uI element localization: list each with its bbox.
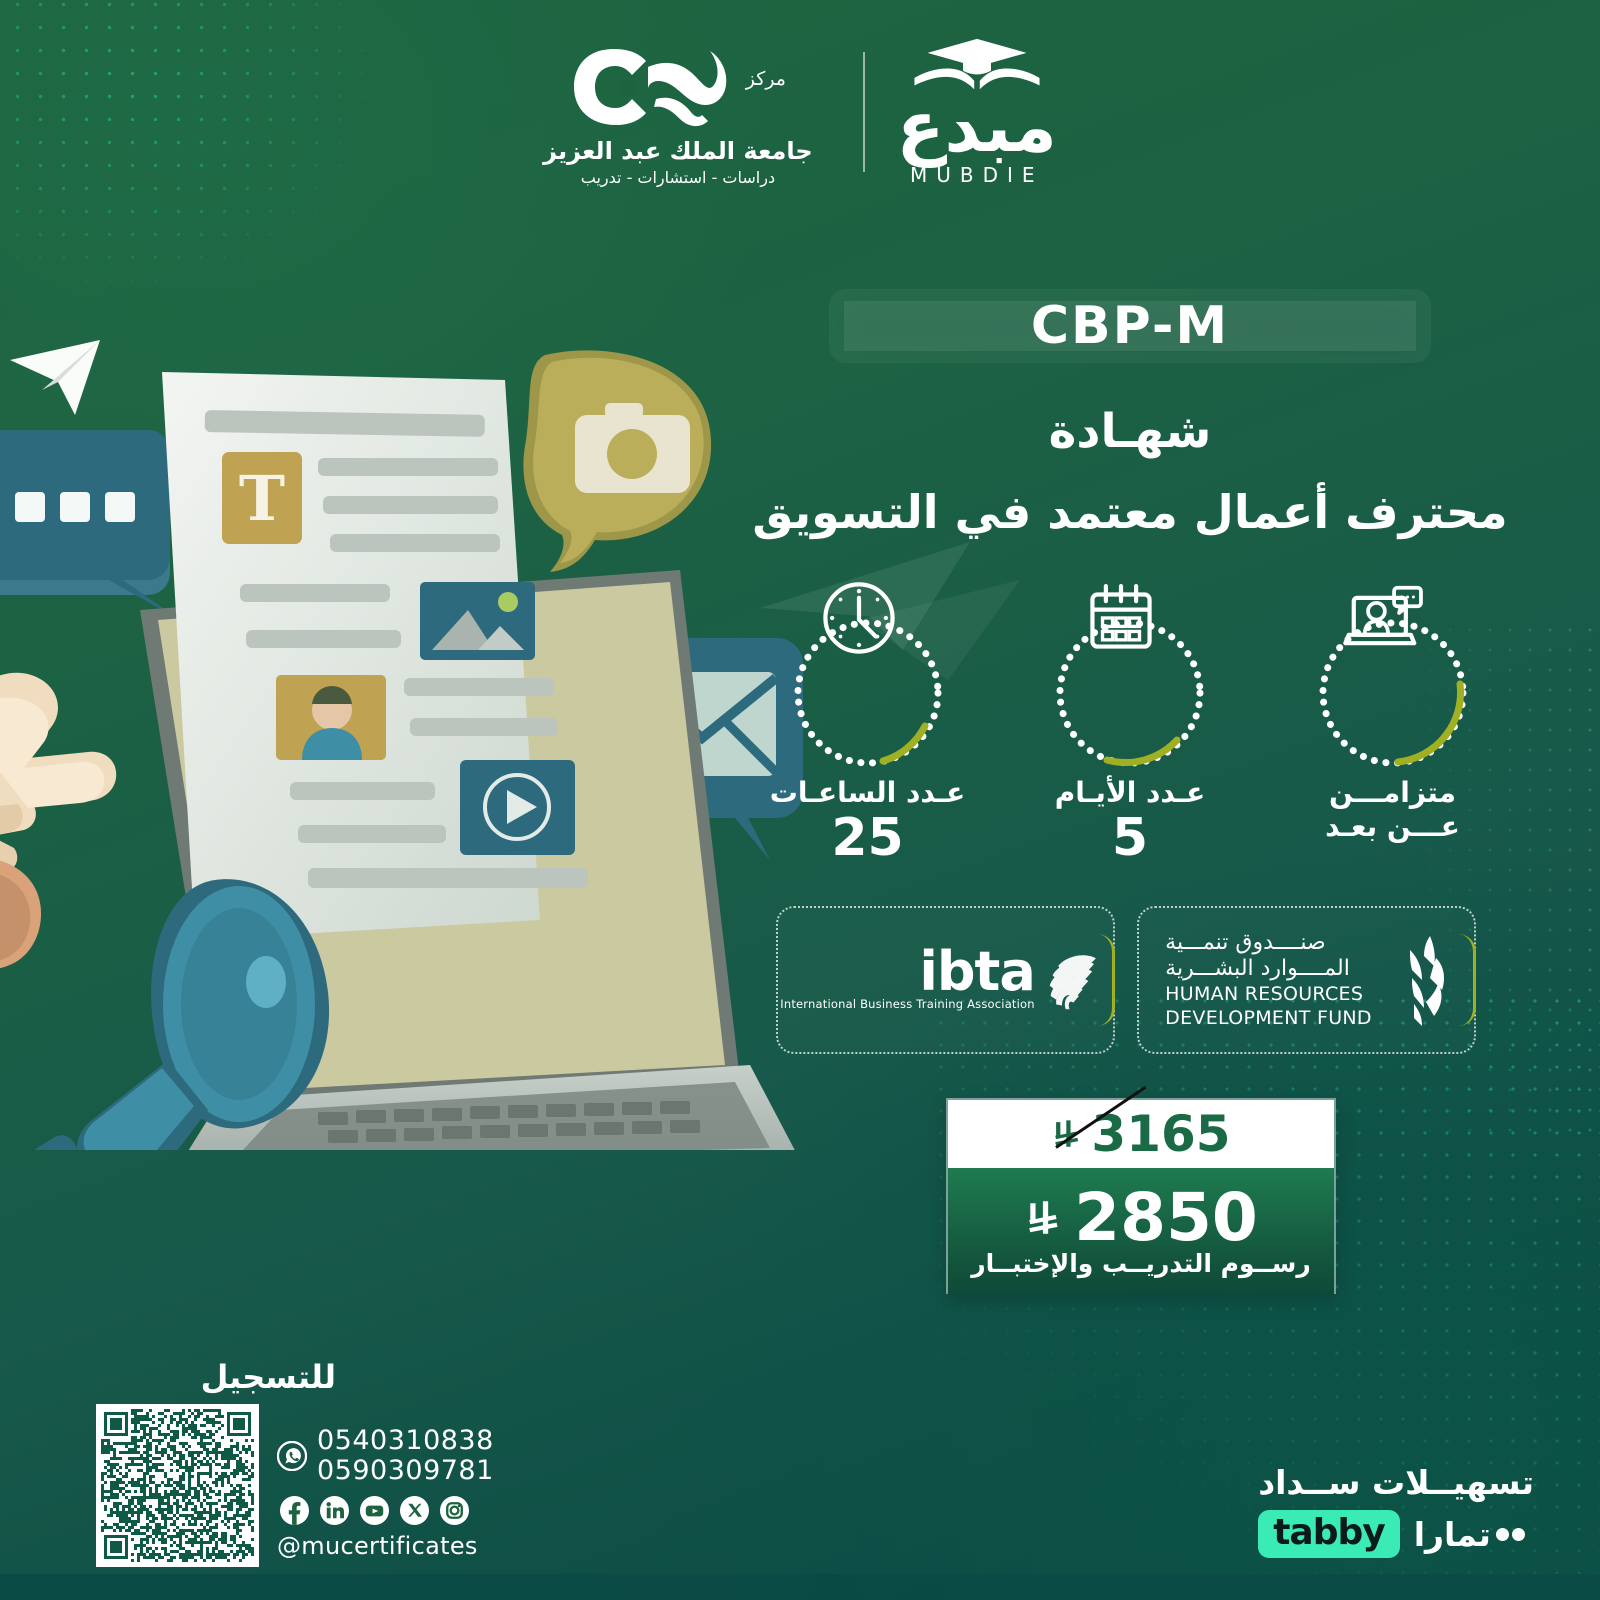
person-icon	[276, 675, 386, 760]
payment-options-block: تسهيــلات ســداد tabby تمارا	[1258, 1463, 1534, 1558]
phone-number: 0540310838	[317, 1426, 494, 1456]
video-play-icon	[460, 760, 575, 855]
new-price-row: 2850 رســوم التدريــب والإختبــار	[948, 1168, 1334, 1294]
saudi-riyal-icon	[1024, 1197, 1066, 1239]
text-block-icon: T	[222, 452, 302, 544]
hrdf-english-line1: HUMAN RESOURCES	[1165, 984, 1363, 1005]
info-circle	[793, 618, 943, 768]
graduation-cap-book-icon	[902, 37, 1052, 93]
ibta-wordmark: ibta	[919, 949, 1034, 995]
course-title: محترف أعمال معتمد في التسويق	[740, 485, 1520, 539]
tamara-dots-icon	[1496, 1528, 1525, 1541]
info-item-delivery: متزامـــن عـــن بعـد	[1285, 618, 1500, 878]
partner-logos-row: ibta International Business Training Ass…	[776, 906, 1476, 1054]
hrdf-english-line2: DEVELOPMENT FUND	[1165, 1008, 1372, 1029]
mubdie-arabic-wordmark: مبدع	[897, 95, 1057, 159]
thumbs-up-icon	[0, 673, 116, 880]
mubdie-logo: مبدع MUBDIE	[891, 37, 1057, 187]
mubdie-latin-wordmark: MUBDIE	[910, 163, 1044, 187]
chat-bubble-icon	[0, 430, 180, 620]
mu-creativity-center-logo: مركز جامعة الملك عبد العزيز دراسات - است…	[543, 37, 837, 187]
phone-numbers: 0540310838 0590309781	[317, 1426, 494, 1486]
info-value: 25	[831, 812, 903, 864]
info-item-hours: عـدد الساعـات 25	[760, 618, 975, 878]
poster-canvas: مركز جامعة الملك عبد العزيز دراسات - است…	[0, 0, 1600, 1600]
partner-box-ibta: ibta International Business Training Ass…	[776, 906, 1115, 1054]
bottom-band	[0, 1574, 1600, 1600]
x-twitter-icon[interactable]	[399, 1495, 430, 1526]
creativity-arabic-mark-icon	[570, 37, 740, 133]
clock-icon	[817, 576, 901, 660]
info-label: عـدد الأيـام	[1055, 776, 1206, 810]
hand-icon	[0, 858, 41, 971]
calendar-icon	[1079, 576, 1163, 660]
svg-text:T: T	[239, 462, 285, 535]
registration-block: للتسجيل 0540310838 0590309781	[96, 1358, 576, 1567]
old-price-amount: 3165	[1091, 1109, 1230, 1159]
social-handle: @mucertificates	[277, 1532, 494, 1560]
facebook-icon[interactable]	[279, 1495, 310, 1526]
mu-logo-university: جامعة الملك عبد العزيز	[543, 137, 813, 165]
paper-plane-icon	[10, 340, 100, 415]
partner-box-hrdf: صنــــدوق تنمـــية المــــوارد البشـــري…	[1137, 906, 1476, 1054]
hrdf-arabic-line1: صنــــدوق تنمـــية	[1165, 930, 1326, 955]
certificate-word: شهـادة	[740, 404, 1520, 459]
course-code-frame: CBP-M	[830, 290, 1430, 362]
course-header-block: CBP-M شهـادة محترف أعمال معتمد في التسوي…	[740, 290, 1520, 539]
online-learning-icon	[1342, 576, 1426, 660]
course-info-row: عـدد الساعـات 25	[760, 618, 1500, 878]
social-icons-row	[279, 1495, 494, 1526]
info-label: متزامـــن عـــن بعـد	[1325, 776, 1460, 844]
registration-qr-code[interactable]	[96, 1404, 259, 1567]
phone-number: 0590309781	[317, 1456, 494, 1486]
registration-title: للتسجيل	[131, 1358, 336, 1396]
image-icon	[420, 582, 535, 660]
info-circle	[1318, 618, 1468, 768]
linkedin-icon[interactable]	[319, 1495, 350, 1526]
price-box: 3165 2850 رســوم التدريــب والإختبــار	[946, 1098, 1336, 1294]
logo-divider	[863, 52, 865, 172]
info-value: 5	[1112, 812, 1148, 864]
payment-title: تسهيــلات ســداد	[1258, 1463, 1534, 1502]
globe-swirl-icon	[1045, 947, 1111, 1013]
header-logos: مركز جامعة الملك عبد العزيز دراسات - است…	[0, 12, 1600, 212]
whatsapp-icon[interactable]	[277, 1441, 307, 1471]
info-label: عـدد الساعـات	[770, 776, 965, 810]
contact-block: 0540310838 0590309781	[277, 1404, 494, 1560]
youtube-icon[interactable]	[359, 1495, 390, 1526]
course-code: CBP-M	[1031, 296, 1229, 356]
tamara-wordmark: تمارا	[1414, 1515, 1491, 1554]
instagram-icon[interactable]	[439, 1495, 470, 1526]
phone-row: 0540310838 0590309781	[277, 1426, 494, 1486]
hrdf-arabic-line2: المــــوارد البشـــرية	[1165, 956, 1350, 981]
hrdf-palm-icon	[1386, 934, 1448, 1026]
marketing-content-laptop-illustration: T	[0, 320, 810, 1150]
info-circle	[1055, 618, 1205, 768]
info-item-days: عـدد الأيـام 5	[1023, 618, 1238, 878]
qr-canvas	[101, 1409, 254, 1562]
mu-logo-services: دراسات - استشارات - تدريب	[581, 168, 775, 187]
course-code-bar: CBP-M	[844, 301, 1416, 351]
old-price-row: 3165	[948, 1100, 1334, 1168]
tamara-logo[interactable]: تمارا	[1414, 1515, 1525, 1554]
mu-logo-small-word: مركز	[746, 70, 786, 133]
price-caption: رســوم التدريــب والإختبــار	[971, 1249, 1310, 1278]
ibta-subtitle: International Business Training Associat…	[780, 997, 1035, 1011]
tabby-logo[interactable]: tabby	[1258, 1510, 1400, 1558]
camera-bubble-icon	[523, 350, 711, 572]
megaphone-icon	[25, 879, 329, 1150]
new-price-amount: 2850	[1074, 1185, 1258, 1251]
